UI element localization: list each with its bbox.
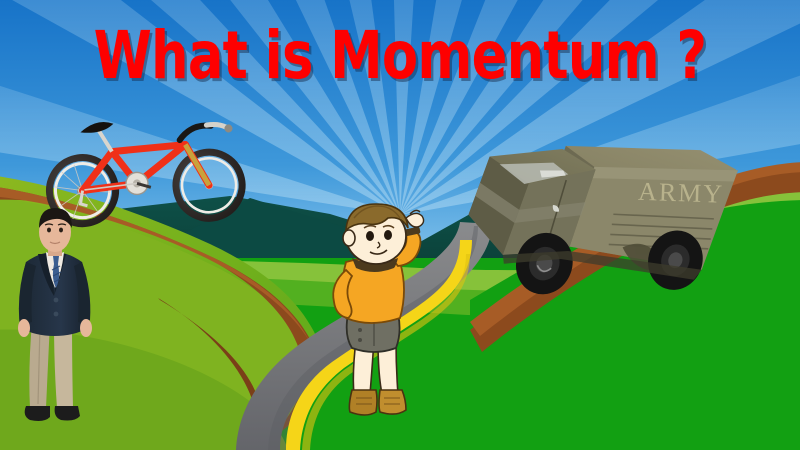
truck-army-marking: ARMY xyxy=(638,177,725,209)
scene-svg: ARMY xyxy=(0,0,800,450)
illustration-canvas: ARMY xyxy=(0,0,800,450)
man-jacket xyxy=(19,252,90,336)
boy-head xyxy=(343,204,408,264)
